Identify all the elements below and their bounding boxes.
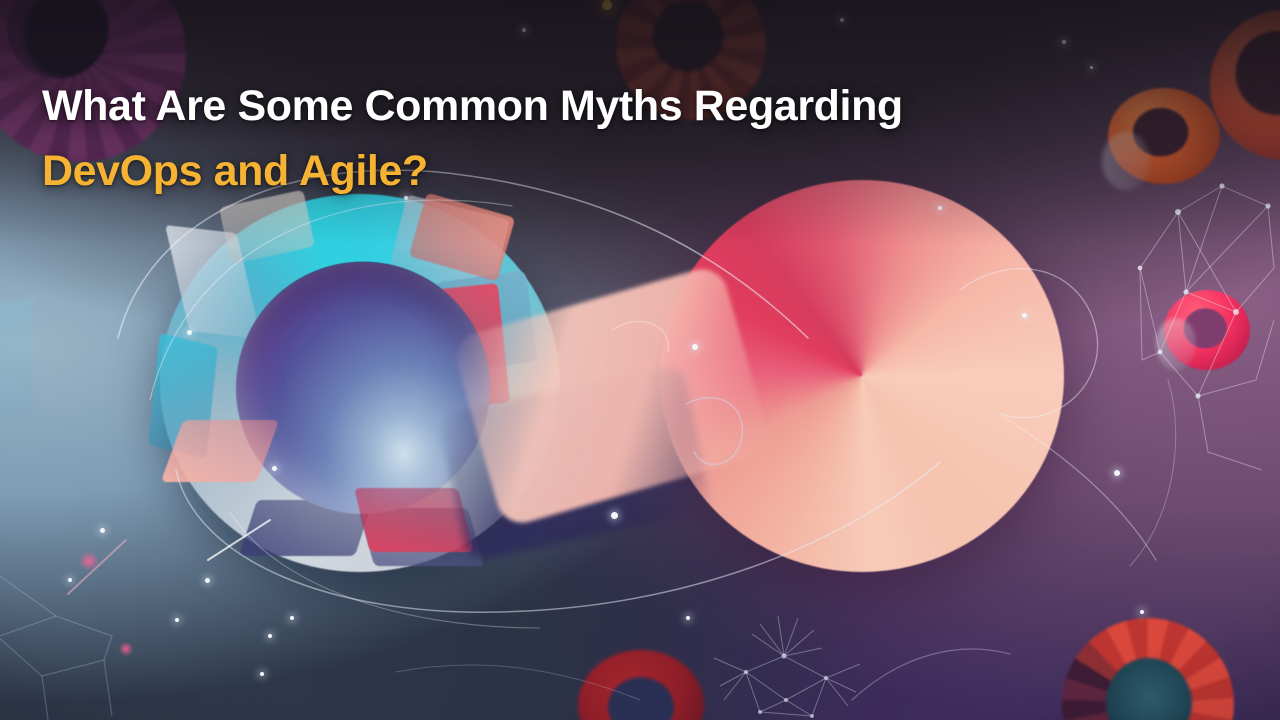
headline-line-2: DevOps and Agile? bbox=[42, 139, 1172, 204]
banner-hero: What Are Some Common Myths Regarding Dev… bbox=[0, 0, 1280, 720]
headline-line-1: What Are Some Common Myths Regarding bbox=[42, 82, 903, 130]
page-title: What Are Some Common Myths Regarding Dev… bbox=[42, 74, 1172, 205]
headline-heading: What Are Some Common Myths Regarding Dev… bbox=[42, 74, 1172, 205]
